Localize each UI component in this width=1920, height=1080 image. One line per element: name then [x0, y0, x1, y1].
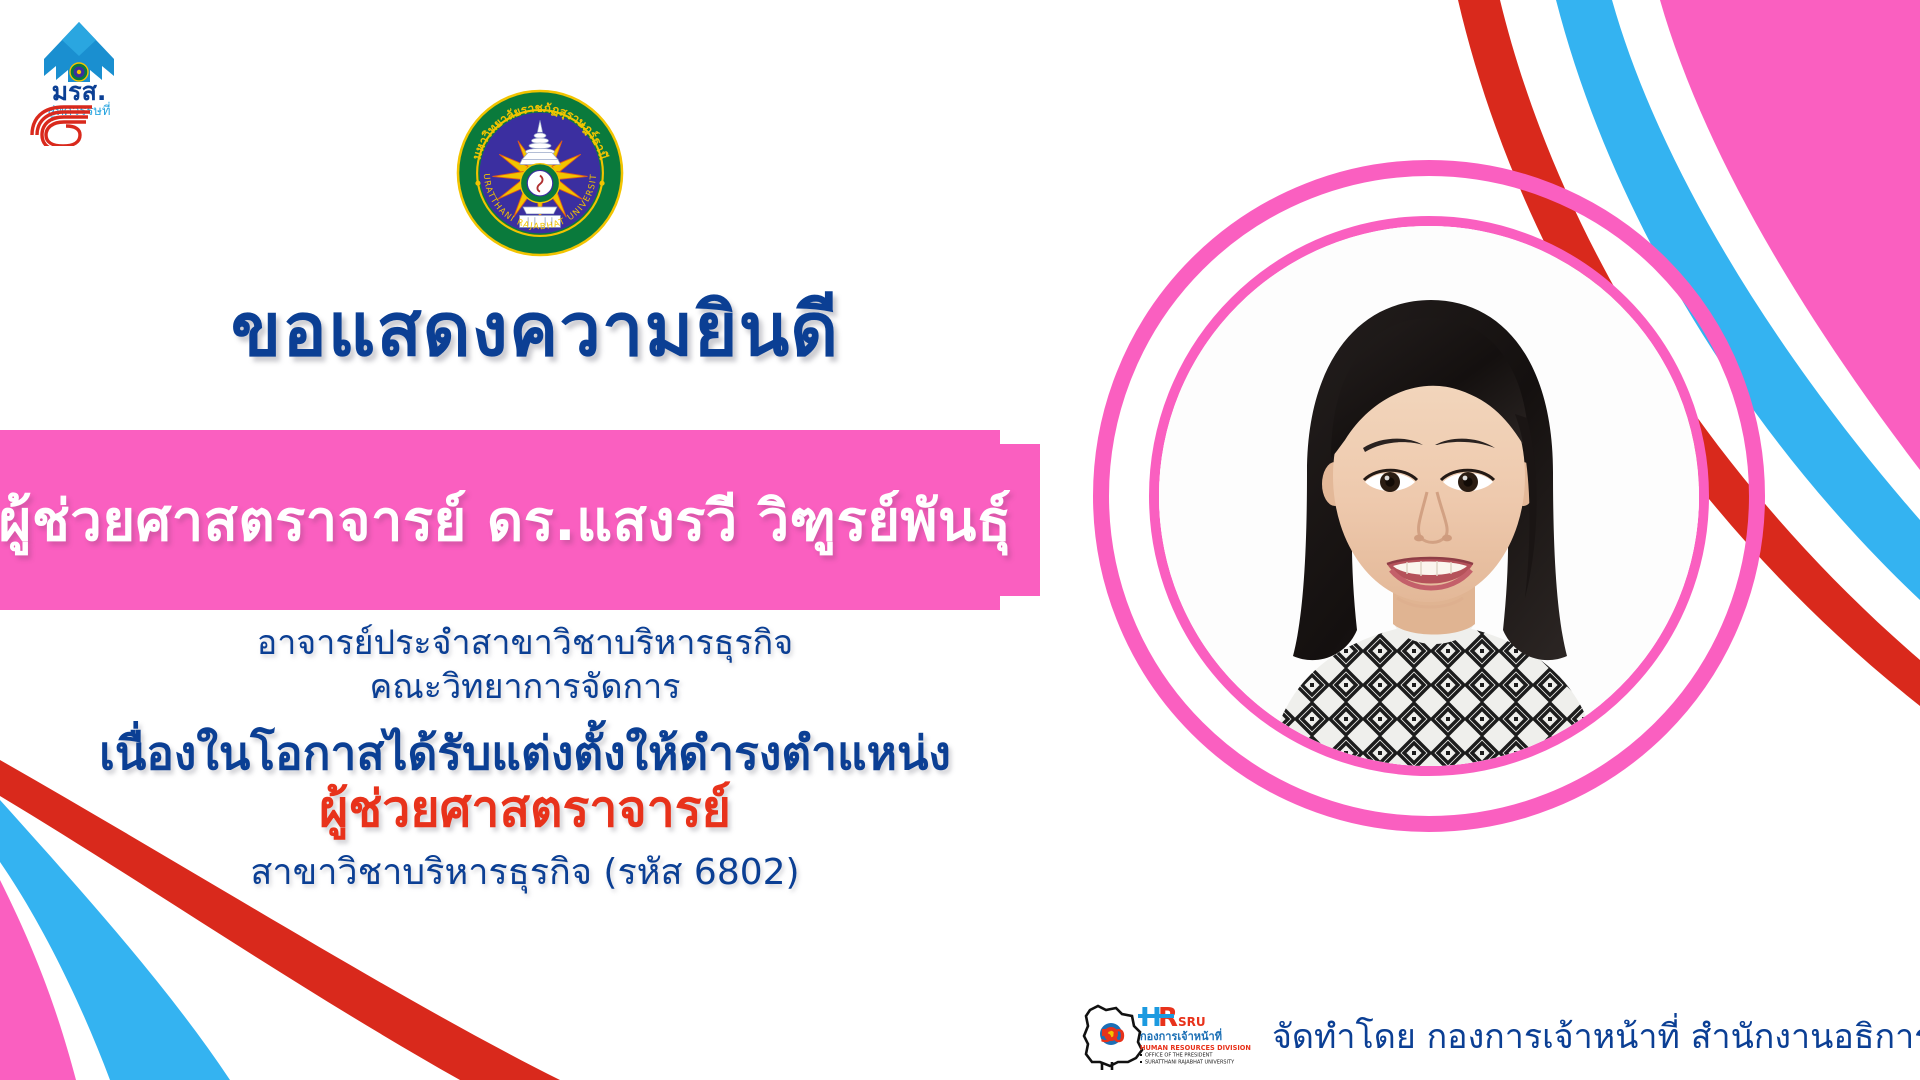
congratulations-poster: มรส. สู่ทศวรรษที่ [0, 0, 1920, 1080]
footer-credit: จัดทำโดย กองการเจ้าหน้าที่ สำนักงานอธิกา… [1272, 1009, 1920, 1063]
academic-rank: ผู้ช่วยศาสตราจารย์ [0, 780, 1050, 839]
sru-label: SRU [1178, 1015, 1206, 1029]
portrait-frame [1093, 160, 1765, 832]
swoosh-pink-bottom-left [0, 880, 76, 1080]
affiliation-line-2: คณะวิทยาการจัดการ [0, 666, 1050, 710]
gear-numeral-label: 50 [1100, 1026, 1125, 1047]
seal-dot-right [600, 181, 605, 186]
occasion-line: เนื่องในโอกาสได้รับแต่งตั้งให้ดำรงตำแหน่… [0, 727, 1050, 780]
honoree-name: ผู้ช่วยศาสตราจารย์ ดร.แสงรวี วิฑูรย์พันธ… [0, 430, 1010, 610]
page-title: ขอแสดงความยินดี [0, 290, 1070, 371]
hr-thai-division-label: กองการเจ้าหน้าที่ [1140, 1028, 1222, 1043]
footer: 50 H R SRU กองการเจ้าหน้าที่ HUMAN RESOU… [1078, 1000, 1920, 1072]
hr-english-division-label: HUMAN RESOURCES DIVISION [1140, 1044, 1251, 1052]
hr-sru-logo: 50 H R SRU กองการเจ้าหน้าที่ HUMAN RESOU… [1078, 1000, 1258, 1072]
hr-university-line-label: SURATTHANI RAJABHAT UNIVERSITY [1145, 1060, 1235, 1066]
affiliation-line-1: อาจารย์ประจำสาขาวิชาบริหารธุรกิจ [0, 622, 1050, 666]
program-code-line: สาขาวิชาบริหารธุรกิจ (รหัส 6802) [0, 851, 1050, 894]
anniversary-numeral-six [32, 107, 92, 146]
hr-office-line-label: OFFICE OF THE PRESIDENT [1145, 1053, 1213, 1059]
body-text-block: อาจารย์ประจำสาขาวิชาบริหารธุรกิจ คณะวิทย… [0, 622, 1050, 894]
hr-crossbar [1138, 1014, 1174, 1018]
seal-dot-left [475, 181, 480, 186]
honoree-portrait [1159, 226, 1699, 766]
anniversary-abbr-label: มรส. [52, 77, 107, 106]
university-seal: มหาวิทยาลัยราชภัฏสุราษฎร์ธานี SURATTHANI… [455, 88, 625, 258]
anniversary-logo: มรส. สู่ทศวรรษที่ [18, 14, 140, 146]
